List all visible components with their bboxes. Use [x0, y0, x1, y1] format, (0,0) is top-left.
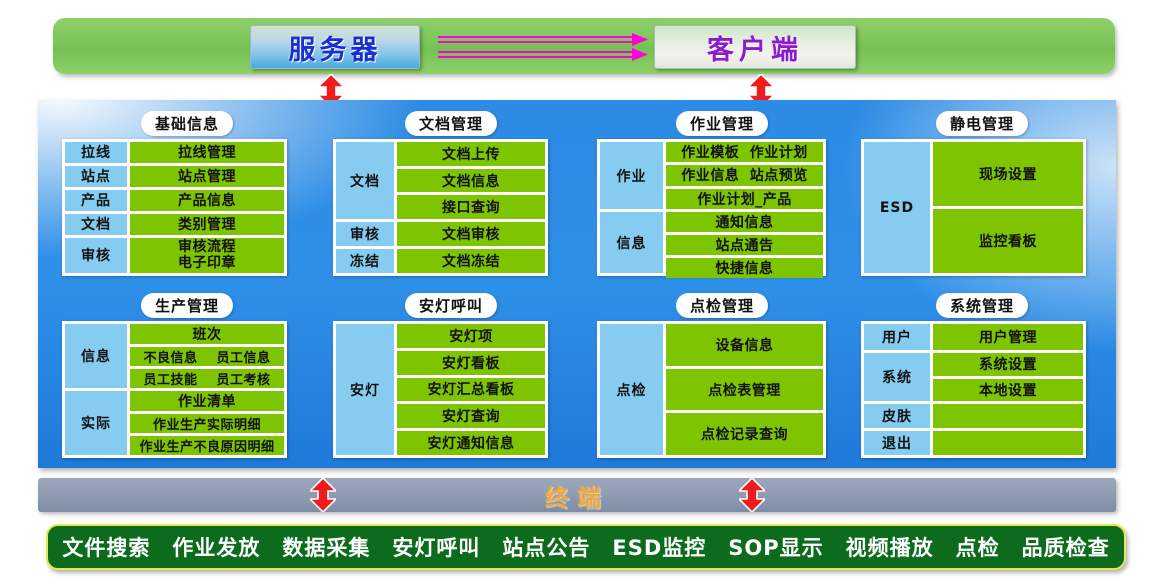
module-group: 皮肤 [864, 404, 1083, 428]
menu-item[interactable]: 快捷信息 [666, 258, 823, 278]
group-items: 安灯项 安灯看板 安灯汇总看板 安灯查询 安灯通知信息 [397, 324, 545, 455]
group-items: 设备信息 点检表管理 点检记录查询 [666, 324, 823, 455]
module-title-4: 生产管理 [141, 293, 233, 318]
module-title-3: 静电管理 [936, 111, 1028, 136]
footer-item-0[interactable]: 文件搜索 [51, 532, 161, 562]
module-title-text: 点检管理 [690, 295, 754, 316]
group-label[interactable]: 冻结 [336, 249, 394, 273]
module-title-text: 静电管理 [950, 113, 1014, 134]
menu-item[interactable]: 作业生产实际明细 [130, 414, 284, 433]
menu-item[interactable]: 产品信息 [130, 190, 284, 211]
module-title-text: 生产管理 [155, 295, 219, 316]
menu-item[interactable]: 作业模板 [681, 142, 739, 162]
group-label[interactable]: 拉线 [65, 142, 127, 163]
group-label[interactable]: 审核 [336, 222, 394, 246]
module-group: 审核 审核流程 电子印章 [65, 238, 284, 273]
menu-item[interactable]: 文档上传 [397, 142, 545, 166]
menu-item[interactable]: 审核流程 电子印章 [130, 238, 284, 273]
group-items: 系统设置 本地设置 [933, 353, 1083, 402]
group-label[interactable]: 作业 [600, 142, 663, 209]
menu-item[interactable]: 文档审核 [397, 222, 545, 246]
module-group: 产品 产品信息 [65, 190, 284, 211]
menu-item[interactable]: 作业计划 [750, 142, 808, 162]
menu-item[interactable]: 设备信息 [666, 324, 823, 366]
menu-item[interactable]: 文档冻结 [397, 249, 545, 273]
module-group: 冻结 文档冻结 [336, 249, 545, 273]
footer-item-2[interactable]: 数据采集 [271, 532, 381, 562]
menu-item-pair[interactable]: 作业信息 站点预览 [666, 165, 823, 185]
group-label[interactable]: 皮肤 [864, 404, 930, 428]
menu-item[interactable]: 安灯通知信息 [397, 431, 545, 455]
group-label[interactable]: 系统 [864, 353, 930, 402]
module-title-text: 系统管理 [950, 295, 1014, 316]
module-group: 系统 系统设置 本地设置 [864, 353, 1083, 402]
group-items: 班次 不良信息 员工信息 员工技能 员工考核 [130, 324, 284, 388]
menu-item[interactable]: 现场设置 [933, 142, 1083, 206]
module-group: 作业 作业模板 作业计划 作业信息 站点预览 作业计划_产品 [600, 142, 823, 209]
group-label[interactable]: 安灯 [336, 324, 394, 455]
menu-item[interactable]: 站点预览 [750, 165, 808, 185]
menu-item[interactable]: 员工技能 [143, 369, 197, 388]
group-items: 通知信息 站点通告 快捷信息 [666, 212, 823, 273]
module-group: 审核 文档审核 [336, 222, 545, 246]
module-card-5: 安灯 安灯项 安灯看板 安灯汇总看板 安灯查询 安灯通知信息 [333, 321, 548, 458]
module-title-text: 基础信息 [155, 113, 219, 134]
group-items: 拉线管理 [130, 142, 284, 163]
menu-item-line1: 审核流程 [178, 239, 236, 255]
group-label[interactable]: 审核 [65, 238, 127, 273]
module-card-6: 点检 设备信息 点检表管理 点检记录查询 [597, 321, 826, 458]
group-items: 作业清单 作业生产实际明细 作业生产不良原因明细 [130, 391, 284, 455]
module-card-3: ESD 现场设置 监控看板 [861, 139, 1086, 276]
group-label[interactable]: 文档 [336, 142, 394, 219]
menu-item[interactable]: 作业信息 [681, 165, 739, 185]
menu-item[interactable]: 班次 [130, 324, 284, 344]
module-card-4: 信息 班次 不良信息 员工信息 员工技能 员工考核 实际 作业清单 作业生产实际… [62, 321, 287, 458]
group-label[interactable]: 点检 [600, 324, 663, 455]
footer-item-3[interactable]: 安灯呼叫 [381, 532, 491, 562]
module-group: 文档 类别管理 [65, 214, 284, 235]
group-items: 文档冻结 [397, 249, 545, 273]
menu-item[interactable]: 站点管理 [130, 166, 284, 187]
group-items: 用户管理 [933, 324, 1083, 350]
module-group: 信息 班次 不良信息 员工信息 员工技能 员工考核 [65, 324, 284, 388]
module-group: 实际 作业清单 作业生产实际明细 作业生产不良原因明细 [65, 391, 284, 455]
group-items: 审核流程 电子印章 [130, 238, 284, 273]
menu-item[interactable]: 文档信息 [397, 169, 545, 193]
footer-item-9[interactable]: 品质检查 [1011, 532, 1121, 562]
group-items: 现场设置 监控看板 [933, 142, 1083, 273]
menu-item[interactable]: 不良信息 [143, 347, 197, 366]
module-card-2: 作业 作业模板 作业计划 作业信息 站点预览 作业计划_产品 信息 通知信息 站… [597, 139, 826, 276]
menu-item[interactable]: 作业计划_产品 [666, 189, 823, 209]
menu-item[interactable]: 本地设置 [933, 379, 1083, 402]
module-group: 拉线 拉线管理 [65, 142, 284, 163]
module-group: 用户 用户管理 [864, 324, 1083, 350]
server-to-client-arrows [438, 33, 648, 61]
terminal-label: 终端 [545, 478, 609, 513]
menu-item-pair[interactable]: 不良信息 员工信息 [130, 347, 284, 366]
panel-terminal-link-arrow-right [739, 478, 765, 512]
module-title-text: 文档管理 [419, 113, 483, 134]
module-title-2: 作业管理 [676, 111, 768, 136]
terminal-bar: 终端 [38, 478, 1116, 512]
menu-item[interactable]: 通知信息 [666, 212, 823, 232]
footer-item-6[interactable]: SOP显示 [717, 532, 834, 562]
menu-item[interactable]: 安灯看板 [397, 351, 545, 375]
menu-item-pair[interactable]: 员工技能 员工考核 [130, 369, 284, 388]
group-items: 站点管理 [130, 166, 284, 187]
menu-item[interactable]: 点检表管理 [666, 369, 823, 411]
menu-item[interactable]: 作业生产不良原因明细 [130, 436, 284, 455]
group-items: 文档上传 文档信息 接口查询 [397, 142, 545, 219]
group-label[interactable]: 文档 [65, 214, 127, 235]
module-group: 退出 [864, 431, 1083, 455]
module-group: 安灯 安灯项 安灯看板 安灯汇总看板 安灯查询 安灯通知信息 [336, 324, 545, 455]
menu-item[interactable]: 用户管理 [933, 324, 1083, 350]
magenta-double-arrow-icon [438, 33, 648, 61]
module-title-0: 基础信息 [141, 111, 233, 136]
menu-item[interactable]: 员工信息 [216, 347, 270, 366]
menu-item[interactable]: 安灯汇总看板 [397, 378, 545, 402]
module-title-text: 安灯呼叫 [419, 295, 483, 316]
module-title-7: 系统管理 [936, 293, 1028, 318]
menu-item[interactable]: 拉线管理 [130, 142, 284, 163]
group-items [933, 431, 1083, 455]
module-title-6: 点检管理 [676, 293, 768, 318]
group-label[interactable]: 用户 [864, 324, 930, 350]
server-box[interactable]: 服务器 [250, 25, 420, 69]
group-items: 作业模板 作业计划 作业信息 站点预览 作业计划_产品 [666, 142, 823, 209]
menu-item[interactable]: 安灯查询 [397, 404, 545, 428]
group-label[interactable]: 站点 [65, 166, 127, 187]
menu-item[interactable]: 监控看板 [933, 209, 1083, 273]
group-items [933, 404, 1083, 428]
module-card-7: 用户 用户管理 系统 系统设置 本地设置 皮肤 退出 [861, 321, 1086, 458]
server-label: 服务器 [289, 28, 382, 67]
menu-item-pair[interactable]: 作业模板 作业计划 [666, 142, 823, 162]
module-group: 站点 站点管理 [65, 166, 284, 187]
group-label[interactable]: 实际 [65, 391, 127, 455]
module-card-0: 拉线 拉线管理 站点 站点管理 产品 产品信息 文档 类别管理 审核 [62, 139, 287, 276]
module-card-1: 文档 文档上传 文档信息 接口查询 审核 文档审核 冻结 文档冻结 [333, 139, 548, 276]
footer-item-7[interactable]: 视频播放 [835, 532, 945, 562]
menu-item[interactable]: 站点通告 [666, 235, 823, 255]
menu-item[interactable]: 员工考核 [216, 369, 270, 388]
footer-item-8[interactable]: 点检 [945, 532, 1011, 562]
group-items: 类别管理 [130, 214, 284, 235]
module-title-5: 安灯呼叫 [405, 293, 497, 318]
menu-item[interactable]: 作业清单 [130, 391, 284, 411]
client-box[interactable]: 客户端 [654, 25, 856, 69]
menu-item[interactable] [933, 431, 1083, 455]
footer-item-5[interactable]: ESD监控 [601, 532, 717, 562]
module-group: 点检 设备信息 点检表管理 点检记录查询 [600, 324, 823, 455]
footer-item-1[interactable]: 作业发放 [161, 532, 271, 562]
red-double-arrow-icon [739, 478, 765, 512]
group-label[interactable]: 信息 [600, 212, 663, 273]
menu-item[interactable]: 安灯项 [397, 324, 545, 348]
menu-item[interactable] [933, 404, 1083, 428]
panel-terminal-link-arrow-left [310, 478, 336, 512]
menu-item-line2: 电子印章 [178, 255, 236, 271]
menu-item[interactable]: 接口查询 [397, 195, 545, 219]
menu-item[interactable]: 点检记录查询 [666, 413, 823, 455]
client-label: 客户端 [707, 28, 803, 67]
menu-item[interactable]: 类别管理 [130, 214, 284, 235]
module-group: 文档 文档上传 文档信息 接口查询 [336, 142, 545, 219]
module-group: ESD 现场设置 监控看板 [864, 142, 1083, 273]
diagram-root: 服务器 客户端 基础信息 拉线 [0, 0, 1170, 584]
red-double-arrow-icon [310, 478, 336, 512]
group-items: 文档审核 [397, 222, 545, 246]
module-group: 信息 通知信息 站点通告 快捷信息 [600, 212, 823, 273]
group-label[interactable]: ESD [864, 142, 930, 273]
module-title-1: 文档管理 [405, 111, 497, 136]
group-items: 产品信息 [130, 190, 284, 211]
terminal-function-bar: 文件搜索 作业发放 数据采集 安灯呼叫 站点公告 ESD监控 SOP显示 视频播… [46, 524, 1126, 570]
group-label[interactable]: 退出 [864, 431, 930, 455]
menu-item[interactable]: 系统设置 [933, 353, 1083, 376]
group-label[interactable]: 产品 [65, 190, 127, 211]
group-label[interactable]: 信息 [65, 324, 127, 388]
module-title-text: 作业管理 [690, 113, 754, 134]
footer-item-4[interactable]: 站点公告 [491, 532, 601, 562]
